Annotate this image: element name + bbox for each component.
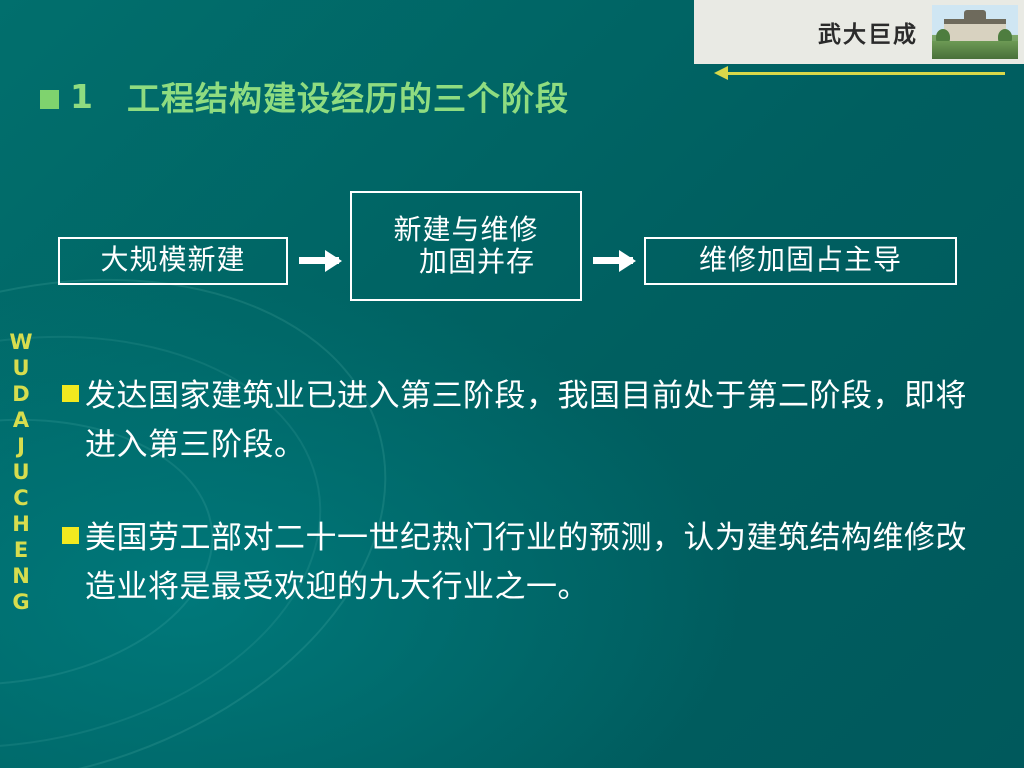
title-label: 工程结构建设经历的三个阶段 <box>127 72 569 120</box>
bullet-square-icon <box>62 527 79 544</box>
lawn-shape <box>932 41 1018 59</box>
flow-stage-2-line-2: 加固并存 <box>393 246 538 278</box>
flow-arrow-2-icon <box>582 246 644 276</box>
bullet-list: 发达国家建筑业已进入第三阶段，我国目前处于第二阶段，即将进入第三阶段。 美国劳工… <box>62 372 992 656</box>
bullet-text: 发达国家建筑业已进入第三阶段，我国目前处于第二阶段，即将进入第三阶段。 <box>85 372 992 470</box>
slide: 武大巨成 1 工程结构建设经历的三个阶段 WUDAJUCHENG 大规模新建 新… <box>0 0 1024 768</box>
page-title: 1 工程结构建设经历的三个阶段 <box>40 72 569 120</box>
flow-stage-1: 大规模新建 <box>58 237 288 285</box>
bullet-square-icon <box>62 385 79 402</box>
side-brand-label: WUDAJUCHENG <box>10 330 31 616</box>
flow-arrow-1-icon <box>288 246 350 276</box>
title-bullet-square-icon <box>40 90 59 109</box>
bullet-text: 美国劳工部对二十一世纪热门行业的预测，认为建筑结构维修改造业将是最受欢迎的九大行… <box>85 514 992 612</box>
campus-building-photo <box>932 5 1018 59</box>
list-item: 美国劳工部对二十一世纪热门行业的预测，认为建筑结构维修改造业将是最受欢迎的九大行… <box>62 514 992 612</box>
header-underline-arrow-icon <box>727 72 1005 75</box>
company-name: 武大巨成 <box>818 15 918 49</box>
stage-flow-diagram: 大规模新建 新建与维修 加固并存 维修加固占主导 <box>58 191 957 301</box>
flow-stage-2-line-1: 新建与维修 <box>393 214 538 246</box>
title-number: 1 <box>70 77 93 116</box>
header-logo-block: 武大巨成 <box>694 0 1024 64</box>
flow-stage-2: 新建与维修 加固并存 <box>350 191 582 301</box>
flow-stage-3: 维修加固占主导 <box>644 237 957 285</box>
list-item: 发达国家建筑业已进入第三阶段，我国目前处于第二阶段，即将进入第三阶段。 <box>62 372 992 470</box>
